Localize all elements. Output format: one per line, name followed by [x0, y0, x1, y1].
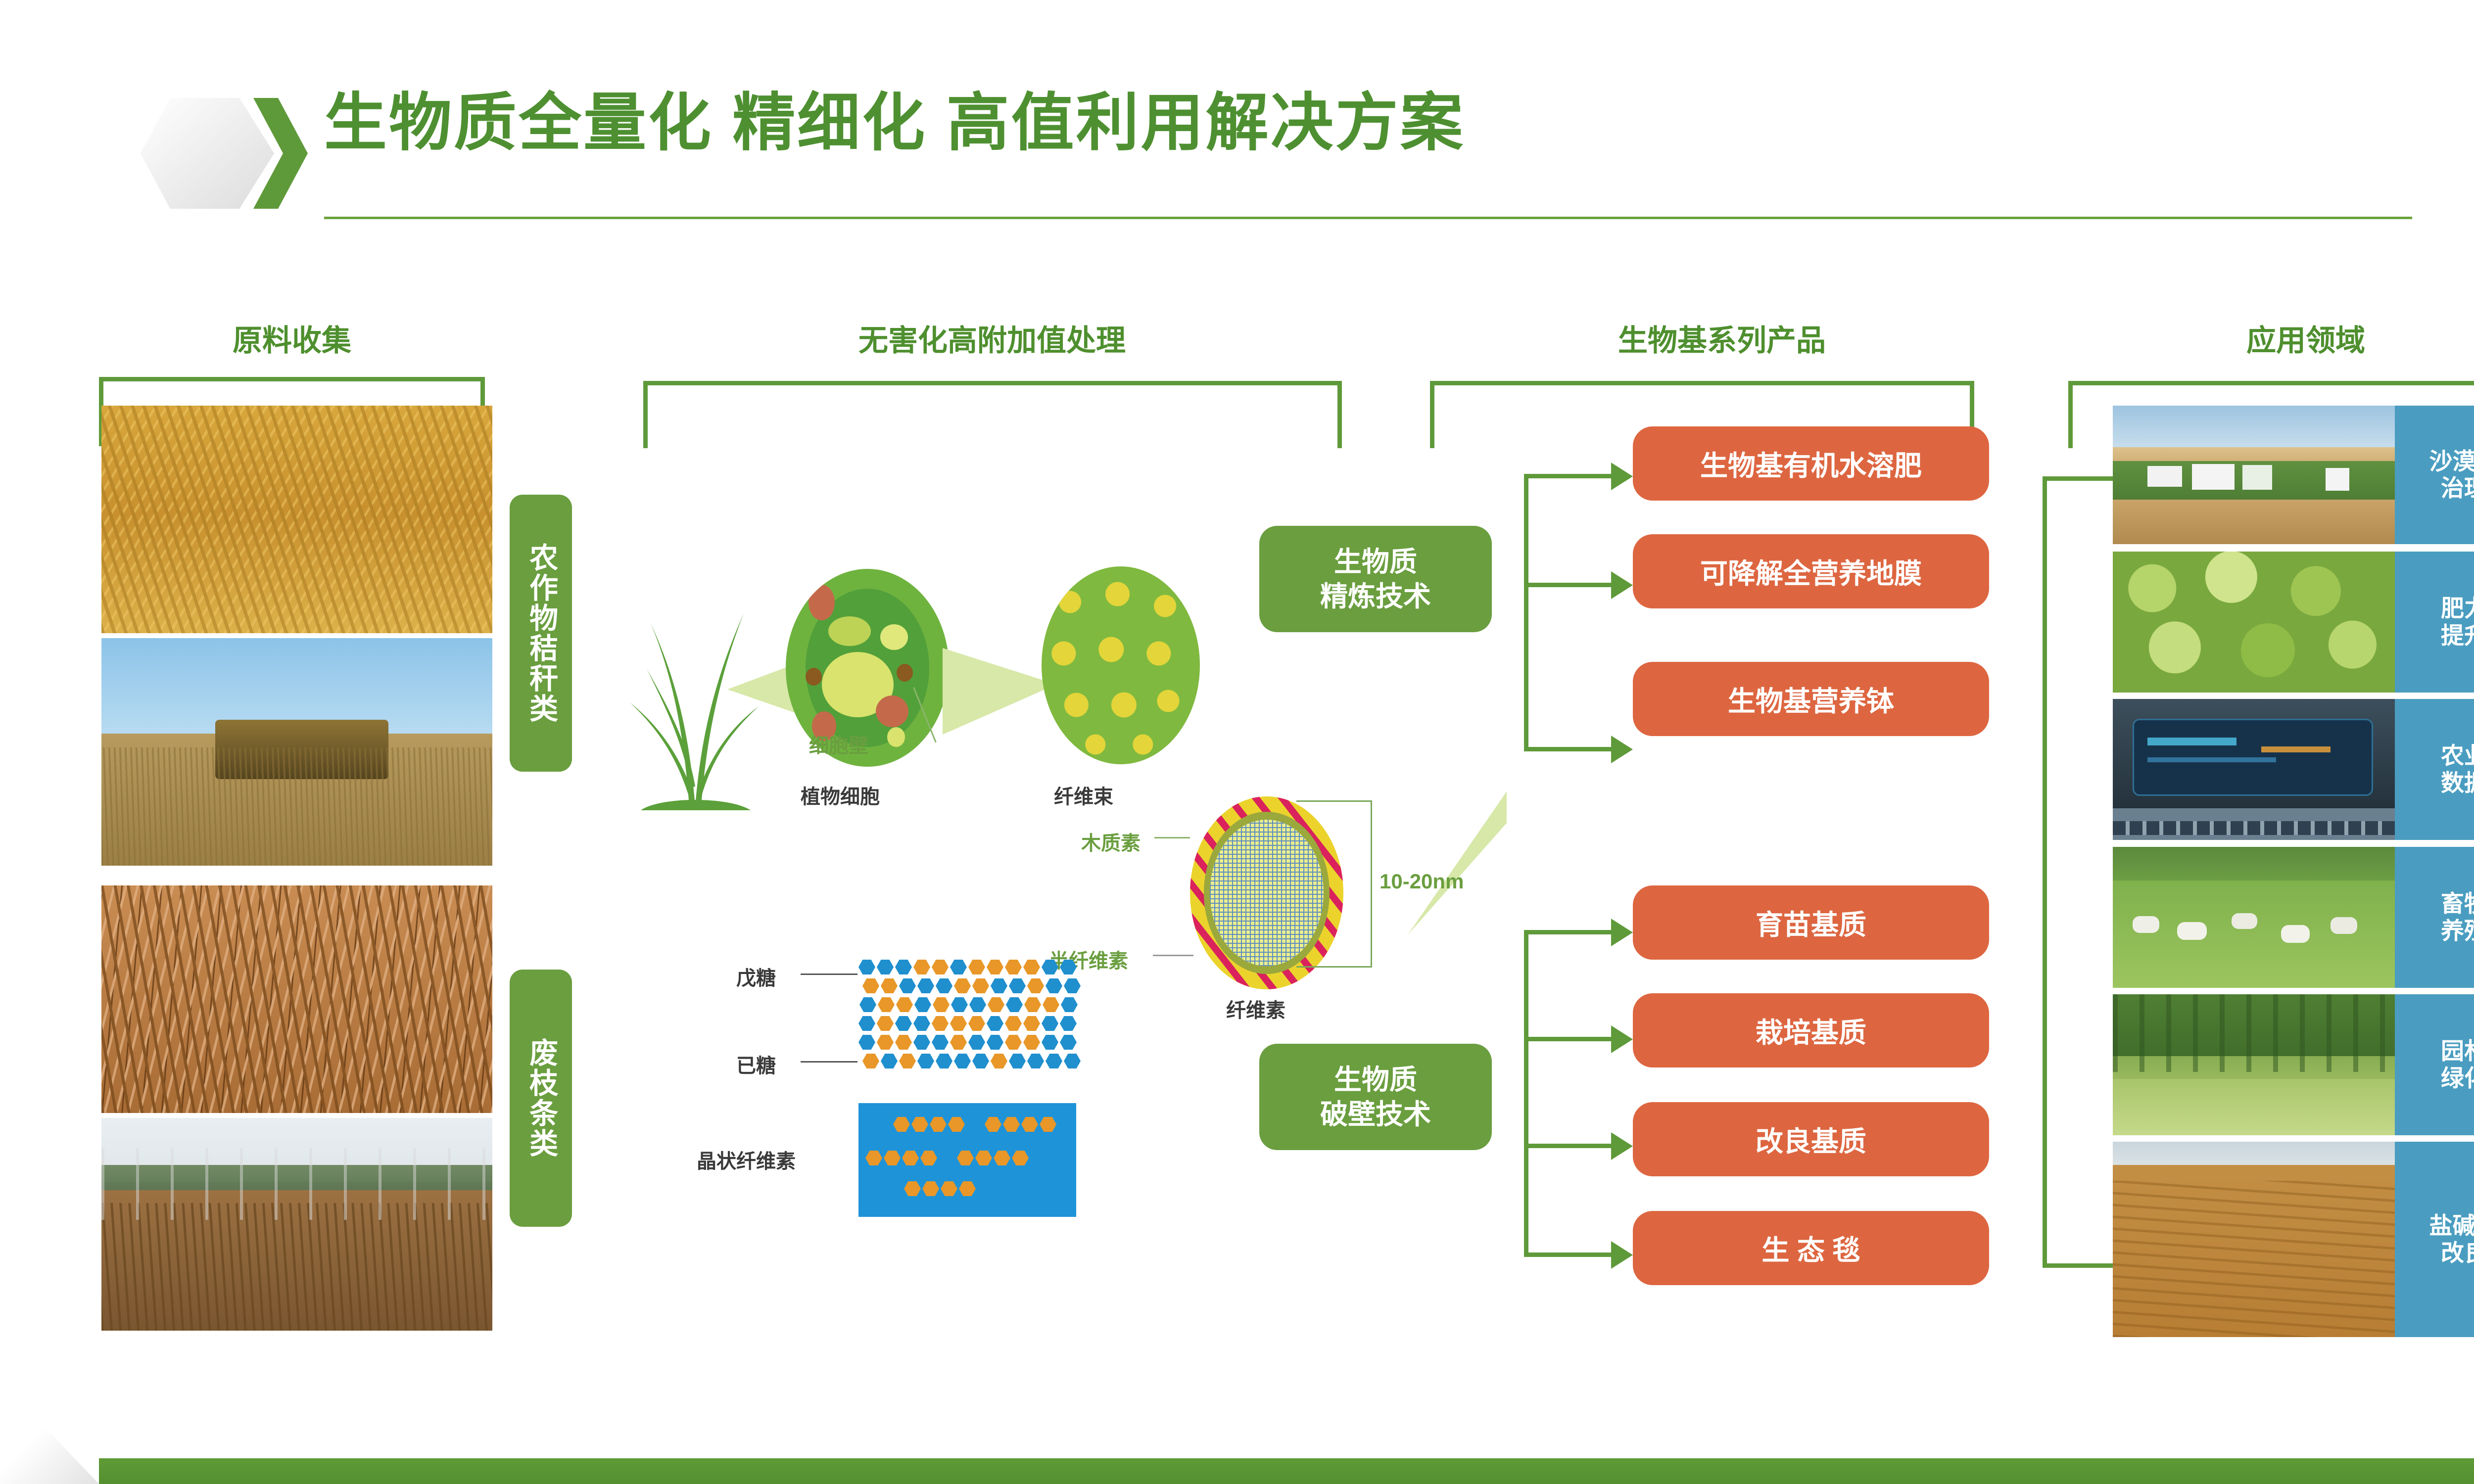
hexagon-chevron-icon: [135, 79, 333, 228]
hexose-label: 已糖: [736, 1050, 776, 1078]
application-row-agri-data[interactable]: 农业 数据: [2113, 699, 2474, 840]
application-tag-desert: 沙漠化 治理: [2395, 406, 2474, 544]
arrow-icon: [1611, 736, 1633, 763]
connector-branch: [1524, 583, 1613, 587]
crystalline-cellulose-label: 晶状纤维素: [697, 1145, 796, 1174]
application-tag-line2: 绿化: [2441, 1065, 2474, 1092]
application-tag-line1: 园林: [2441, 1038, 2474, 1065]
pentose-leader-line: [801, 974, 857, 975]
connector-branch: [2043, 476, 2122, 481]
sidebar-item-waste-branches[interactable]: 废枝条类: [510, 970, 572, 1227]
lignin-leader-line: [1154, 837, 1190, 838]
connector-branch: [1524, 930, 1613, 934]
product-pill-nutrient-pot[interactable]: 生物基营养钵: [1633, 662, 1989, 736]
table-row: [101, 406, 492, 633]
plant-silhouette-icon: [621, 539, 769, 816]
plant-cell-label: 植物细胞: [801, 781, 880, 809]
connector-branch: [2043, 1263, 2122, 1268]
product-pill-water-soluble-fertilizer[interactable]: 生物基有机水溶肥: [1633, 426, 1989, 501]
application-tag-line1: 沙漠化: [2429, 448, 2474, 475]
landscape-greening-photo: [2113, 994, 2395, 1135]
tech-box-cellwall[interactable]: 生物质 破壁技术: [1259, 1044, 1492, 1150]
tech-box-line2: 精炼技术: [1320, 581, 1431, 612]
page-title: 生物质全量化 精细化 高值利用解决方案: [324, 92, 1465, 154]
application-tag-line1: 肥力: [2441, 595, 2474, 622]
hemicellulose-leader-line: [1153, 955, 1193, 956]
tech-box-line1: 生物质: [1334, 1064, 1417, 1095]
section-header-feedstock: 原料收集: [104, 317, 480, 360]
saline-land-photo: [2113, 1142, 2395, 1337]
product-pill-seedling-substrate[interactable]: 育苗基质: [1633, 885, 1989, 960]
footer-corner-left: [0, 1380, 99, 1484]
application-tag-line2: 数据: [2441, 770, 2474, 796]
table-row: [101, 638, 492, 866]
tech-box-line2: 破壁技术: [1320, 1099, 1431, 1130]
application-tag-fertility: 肥力 提升: [2395, 552, 2474, 693]
connector-branch: [1524, 1144, 1613, 1148]
application-tag-agri-data: 农业 数据: [2395, 699, 2474, 840]
arrow-icon: [1611, 571, 1633, 599]
footer-bar: [99, 1458, 2474, 1484]
arrow-icon: [1611, 919, 1633, 946]
sheep-grassland-photo: [2113, 847, 2395, 988]
application-tag-landscaping: 园林 绿化: [2395, 994, 2474, 1135]
connector-branch: [1524, 1037, 1613, 1041]
application-tag-line1: 畜牧: [2441, 890, 2474, 917]
title-underline: [324, 217, 2412, 219]
application-tag-line2: 提升: [2441, 622, 2474, 649]
section-header-products: 生物基系列产品: [1425, 317, 2019, 360]
scale-vertical-line: [1371, 800, 1372, 968]
arrow-icon: [1611, 1025, 1633, 1053]
table-row: [101, 885, 492, 1113]
pentose-label: 戊糖: [736, 962, 776, 991]
arrow-icon: [1611, 1241, 1633, 1269]
product-pill-ecological-blanket[interactable]: 生 态 毯: [1633, 1211, 1989, 1285]
section-header-applications: 应用领域: [2078, 317, 2474, 360]
product-pill-improvement-substrate[interactable]: 改良基质: [1633, 1102, 1989, 1176]
application-tag-line1: 盐碱地: [2429, 1212, 2474, 1239]
fiber-bundle-illustration: [1042, 566, 1200, 764]
application-row-fertility[interactable]: 肥力 提升: [2113, 552, 2474, 693]
slide-root: 生物质全量化 精细化 高值利用解决方案 原料收集 无害化高附加值处理 生物基系列…: [0, 0, 2474, 1484]
hexose-leader-line: [801, 1061, 857, 1063]
magnify-cone-3: [1408, 791, 1507, 935]
desert-control-photo: [2113, 406, 2395, 544]
application-tag-livestock: 畜牧 养殖: [2395, 847, 2474, 988]
application-row-desert[interactable]: 沙漠化 治理: [2113, 406, 2474, 544]
connector-branch: [1524, 474, 1613, 478]
arrow-icon: [1611, 1132, 1633, 1160]
connector-branch: [1524, 1252, 1613, 1257]
connector-spine-refining: [1524, 474, 1528, 751]
cell-wall-label: 细胞壁: [809, 730, 868, 758]
crystalline-cellulose-illustration: [858, 1103, 1076, 1217]
connector-spine-cellwall: [1524, 930, 1528, 1256]
tech-box-line1: 生物质: [1334, 546, 1417, 577]
connector-branch: [1524, 747, 1613, 751]
lignin-label: 木质素: [1081, 827, 1141, 856]
application-tag-line2: 治理: [2441, 475, 2474, 502]
fiber-bundle-label: 纤维束: [1054, 781, 1113, 809]
scale-bottom-tick: [1296, 966, 1372, 968]
cabbage-field-photo: [2113, 552, 2395, 693]
bracket-processing: [643, 381, 1342, 448]
table-row: [101, 1118, 492, 1331]
section-header-processing: 无害化高附加值处理: [638, 317, 1346, 360]
application-row-landscaping[interactable]: 园林 绿化: [2113, 994, 2474, 1135]
cellulose-label: 纤维素: [1226, 994, 1285, 1023]
sidebar-item-crop-straw[interactable]: 农作物秸秆类: [510, 495, 572, 772]
scale-top-tick: [1296, 800, 1372, 802]
product-pill-degradable-mulch-film[interactable]: 可降解全营养地膜: [1633, 534, 1989, 608]
sugar-chain-illustration: [858, 960, 1103, 1083]
fiber-cross-section-illustration: [1190, 796, 1343, 989]
application-tag-line2: 养殖: [2441, 918, 2474, 944]
product-pill-cultivation-substrate[interactable]: 栽培基质: [1633, 993, 1989, 1067]
application-row-livestock[interactable]: 畜牧 养殖: [2113, 847, 2474, 988]
application-row-saline[interactable]: 盐碱地 改良: [2113, 1142, 2474, 1337]
tech-box-refining[interactable]: 生物质 精炼技术: [1259, 526, 1492, 632]
agri-data-center-photo: [2113, 699, 2395, 840]
application-tag-line2: 改良: [2441, 1240, 2474, 1266]
scale-label: 10-20nm: [1380, 870, 1464, 893]
magnify-cone-2: [943, 648, 1056, 735]
sidebar-item-label: 农作物秸秆类: [526, 543, 556, 724]
sidebar-item-label: 废枝条类: [526, 1038, 556, 1159]
application-tag-line1: 农业: [2441, 742, 2474, 769]
application-tag-saline: 盐碱地 改良: [2395, 1142, 2474, 1337]
arrow-icon: [1611, 463, 1633, 490]
connector-spine-applications: [2043, 476, 2047, 1268]
